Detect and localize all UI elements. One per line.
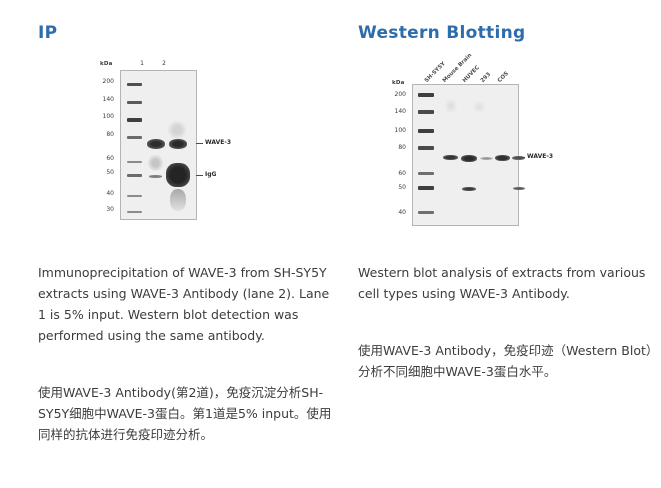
panel-title-western-blotting: Western Blotting [358,22,661,44]
lane-label-huvec: HUVEC [462,65,481,84]
band-annotation-wave3: WAVE-3 [205,139,231,146]
wb-band-mousebrain-50 [462,187,476,191]
ladder-label-60: 60 [98,155,114,162]
lane-label-293: 293 [480,72,492,84]
ladder-label-80: 80 [98,131,114,138]
ladder-rung-60 [127,161,142,163]
blot-figure-wb: kDa SH-SY5Y Mouse Brain HUVEC 293 COS [390,58,661,238]
lane-number-1: 1 [136,60,148,67]
wb-band-mousebrain-wave3 [461,155,477,162]
wb-ladder-rung-60 [418,172,434,175]
caption-english-ip: Immunoprecipitation of WAVE-3 from SH-SY… [38,262,340,346]
wb-ladder-label-80: 80 [390,144,406,151]
panel-title-ip: IP [38,22,350,44]
band-lane2-lowsmear [170,189,186,211]
blot-figure-ip: kDa 1 2 [98,58,350,238]
wb-ladder-rung-100 [418,129,434,133]
wb-ladder-label-140: 140 [390,108,406,115]
caption-english-wb: Western blot analysis of extracts from v… [358,262,660,304]
wb-ladder-label-60: 60 [390,170,406,177]
band-lane2-igg [166,163,190,187]
wb-ladder-rung-200 [418,93,434,97]
band-lane2-wave3 [169,139,187,149]
pointer-dash-igg [196,175,203,176]
wb-ladder-rung-80 [418,146,434,150]
band-lane1-wave3 [147,139,165,149]
ladder-rung-40 [127,195,142,197]
ladder-rung-30 [127,211,142,213]
wb-band-293-wave3 [495,155,510,161]
ladder-label-140: 140 [98,96,114,103]
caption-chinese-ip: 使用WAVE-3 Antibody(第2道)，免疫沉淀分析SH-SY5Y细胞中W… [38,382,340,445]
kda-axis-label-wb: kDa [392,80,405,86]
wb-pointer-dash-wave3 [518,157,525,158]
wb-ladder-rung-50 [418,186,434,190]
wb-band-huvec-wave3 [480,157,493,160]
ladder-rung-200 [127,83,142,86]
pointer-dash-wave3 [196,143,203,144]
panel-ip: IP kDa 1 2 [30,0,350,488]
ladder-rung-80 [127,136,142,139]
wb-ladder-rung-140 [418,110,434,114]
wb-smear-mousebrain [473,101,485,113]
lane-label-cos: COS [497,71,510,84]
ladder-label-200: 200 [98,78,114,85]
ladder-label-100: 100 [98,113,114,120]
wb-ladder-label-200: 200 [390,91,406,98]
wb-smear-shsy5y [445,99,457,113]
ladder-label-30: 30 [98,206,114,213]
band-annotation-igg: IgG [205,171,216,178]
ladder-label-40: 40 [98,190,114,197]
wb-band-annotation-wave3: WAVE-3 [527,153,553,160]
wb-ladder-label-40: 40 [390,209,406,216]
blot-image-wb: kDa SH-SY5Y Mouse Brain HUVEC 293 COS [390,58,661,238]
kda-axis-label-ip: kDa [100,61,113,67]
gel-area-ip [120,70,197,220]
wb-ladder-label-50: 50 [390,184,406,191]
wb-band-shsy5y-wave3 [443,155,458,160]
ladder-rung-100 [127,118,142,122]
wb-ladder-rung-40 [418,211,434,214]
band-lane1-smear [148,155,163,171]
ladder-label-50: 50 [98,169,114,176]
ladder-rung-50 [127,174,142,177]
panel-western-blotting: Western Blotting kDa SH-SY5Y Mouse Brain… [350,0,661,488]
ladder-rung-140 [127,101,142,104]
band-lane1-igg-faint [149,175,162,178]
band-lane2-upper-smear [168,121,186,139]
wb-ladder-label-100: 100 [390,127,406,134]
lane-number-2: 2 [158,60,170,67]
gel-area-wb [412,84,519,226]
caption-chinese-wb: 使用WAVE-3 Antibody，免疫印迹（Western Blot）分析不同… [358,340,660,382]
wb-band-cos-50 [513,187,525,190]
figure-page: IP kDa 1 2 [0,0,661,488]
blot-image-ip: kDa 1 2 [98,58,350,238]
